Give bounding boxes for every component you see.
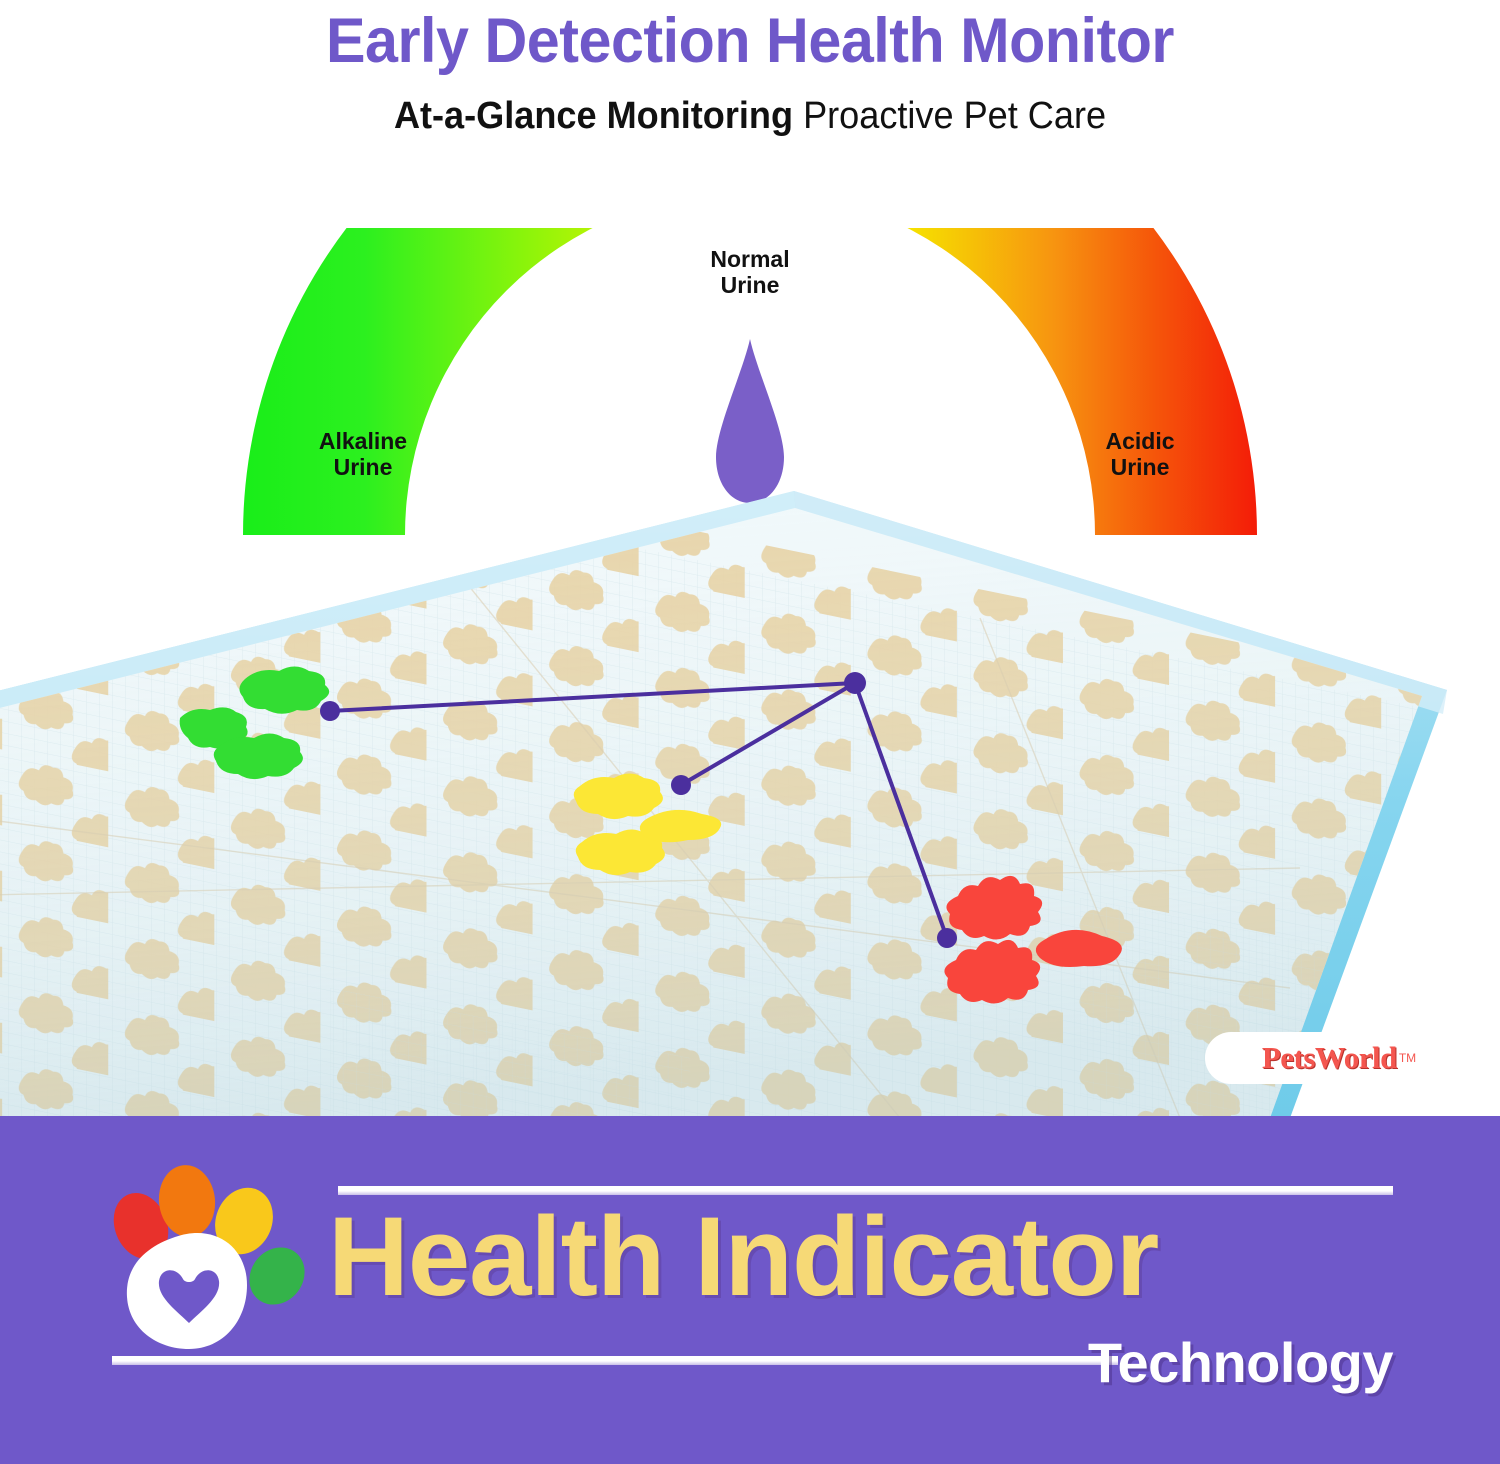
gauge-label-normal-line2: Urine xyxy=(665,272,835,298)
page-title: Early Detection Health Monitor xyxy=(45,0,1455,73)
connector-node-alkaline xyxy=(320,701,340,721)
gauge-label-acidic-line1: Acidic xyxy=(1055,428,1225,454)
page-subtitle: At-a-Glance Monitoring Proactive Pet Car… xyxy=(38,97,1463,135)
paw-logo-icon xyxy=(105,1163,320,1353)
connector-hub xyxy=(844,672,866,694)
gauge-label-alkaline-line1: Alkaline xyxy=(278,428,448,454)
pad-surface xyxy=(0,468,1500,1118)
subtitle-bold-part: At-a-Glance Monitoring xyxy=(394,95,793,137)
infographic-root: Early Detection Health Monitor At-a-Glan… xyxy=(0,0,1500,1464)
connector-node-acidic xyxy=(937,928,957,948)
pet-pad-illustration xyxy=(0,468,1500,1118)
header: Early Detection Health Monitor At-a-Glan… xyxy=(0,0,1500,135)
brand-name: PetsWorld xyxy=(1262,1040,1397,1076)
petsworld-logo-badge: PetsWorldTM xyxy=(1205,1032,1473,1084)
gauge-label-normal: Normal Urine xyxy=(665,246,835,299)
gauge-label-normal-line1: Normal xyxy=(665,246,835,272)
subtitle-normal-part: Proactive Pet Care xyxy=(793,95,1106,137)
connector-node-normal xyxy=(671,775,691,795)
banner-headline: Health Indicator xyxy=(328,1198,1408,1316)
banner-subline: Technology xyxy=(0,1330,1393,1395)
trademark-symbol: TM xyxy=(1399,1051,1416,1065)
